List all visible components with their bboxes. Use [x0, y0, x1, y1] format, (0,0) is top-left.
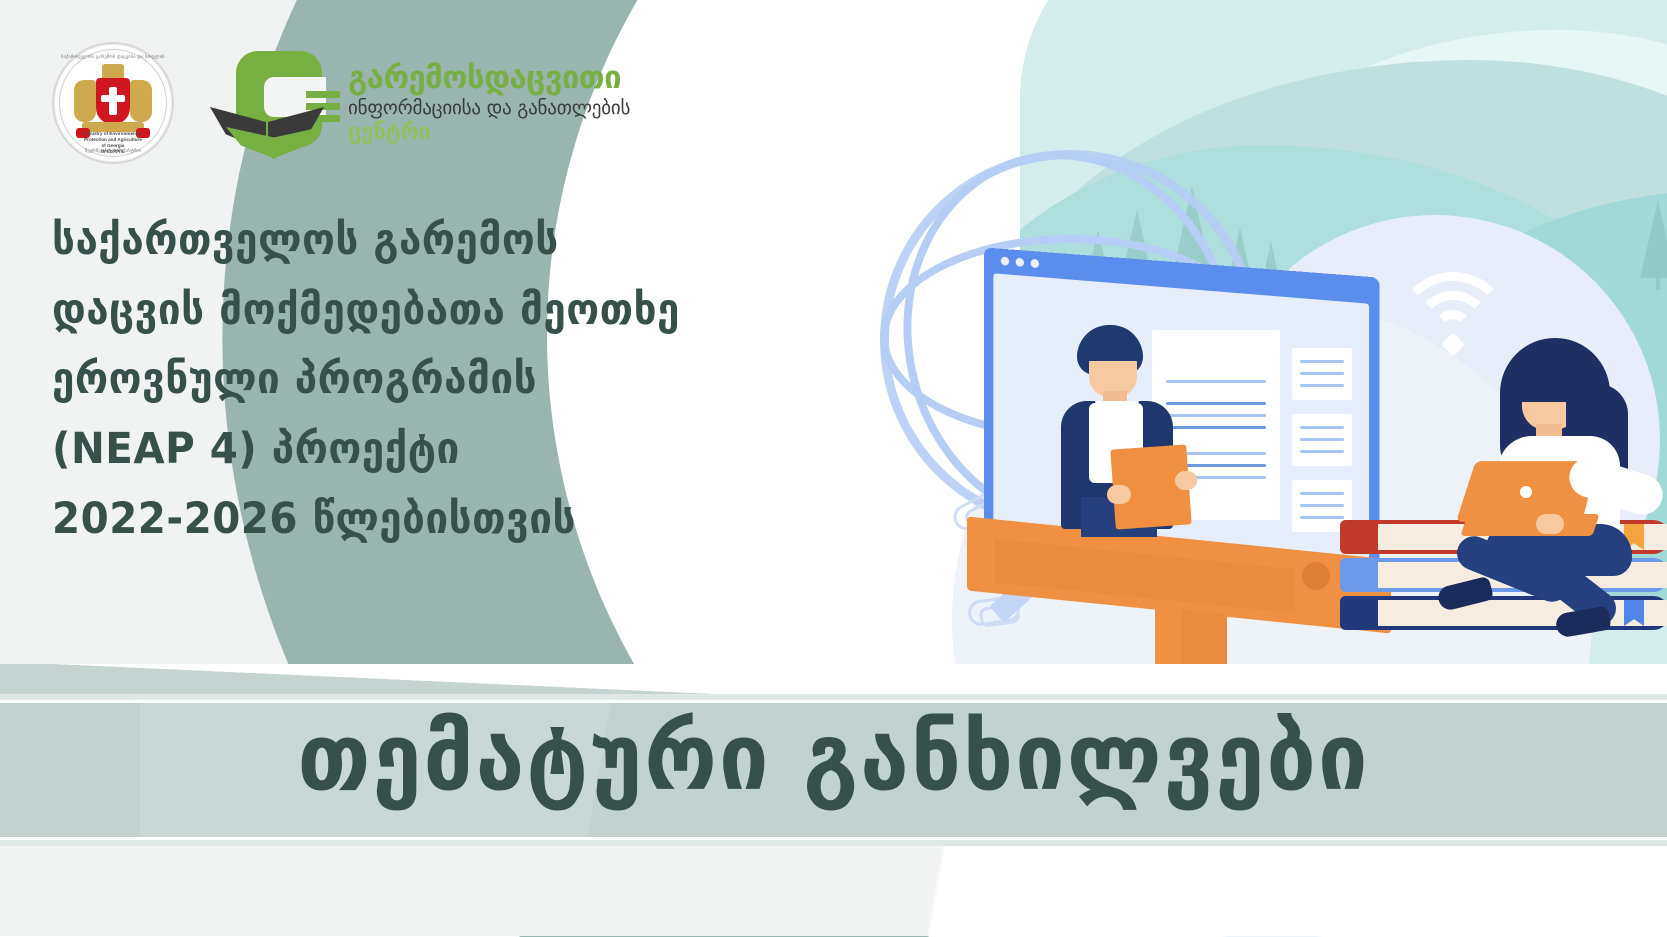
- document-text-line: [1300, 384, 1344, 387]
- pine-tree-icon: [1640, 200, 1667, 278]
- woman-hand: [1536, 514, 1564, 534]
- banner-heading: თემატური განხილვები: [33, 704, 1633, 811]
- document-text-line: [1300, 492, 1344, 495]
- centre-logo-mark: [228, 51, 334, 155]
- seal-arc-text-bottom: მეურნეობის სამინისტრო: [61, 148, 165, 153]
- document-text-line: [1300, 372, 1344, 375]
- logo-bar-2: [306, 103, 340, 110]
- environmental-information-education-centre-logo: გარემოსდაცვითი ინფორმაციისა და განათლები…: [228, 51, 630, 155]
- centre-logo-text: გარემოსდაცვითი ინფორმაციისა და განათლები…: [348, 61, 630, 145]
- slide-title: საქართველოს გარემოს დაცვის მოქმედებათა მ…: [52, 206, 729, 554]
- document-text-line: [1300, 438, 1344, 441]
- seal-lion-left: [74, 80, 96, 122]
- title-line-3: ეროვნული პროგრამის: [52, 345, 729, 415]
- presenter-with-folder: [1055, 325, 1195, 530]
- title-line-1: საქართველოს გარემოს: [52, 206, 729, 276]
- banner-below-wash: [0, 846, 1667, 936]
- centre-name-line-2: ინფორმაციისა და განათლების: [348, 98, 630, 119]
- laptop-logo-dot: [1520, 486, 1532, 498]
- document-text-line: [1300, 426, 1344, 429]
- presenter-hand-left: [1107, 485, 1131, 504]
- centre-name-line-3: ცენტრი: [348, 121, 630, 145]
- title-line-4: (NEAP 4) პროექტი: [52, 415, 729, 485]
- seal-arc-text-top: საქართველოს გარემოს დაცვისა და სოფლის: [61, 54, 165, 59]
- logo-bar-1: [306, 91, 340, 98]
- title-line-5: 2022-2026 წლებისთვის: [52, 485, 729, 555]
- title-line-2: დაცვის მოქმედებათა მეოთხე: [52, 276, 729, 346]
- seal-lion-right: [130, 80, 152, 122]
- woman-with-laptop: [1448, 338, 1667, 608]
- document-text-line: [1300, 360, 1344, 363]
- window-dots: [1001, 256, 1039, 268]
- seal-shield-icon: [96, 78, 130, 124]
- presenter-hand-right: [1175, 471, 1197, 490]
- logo-row: საქართველოს გარემოს დაცვისა და სოფლის Mi…: [52, 42, 630, 164]
- seal-crown-icon: [102, 64, 124, 78]
- document-text-line: [1300, 450, 1344, 453]
- centre-name-line-1: გარემოსდაცვითი: [348, 61, 630, 95]
- document-text-line: [1300, 504, 1344, 507]
- monitor-knob: [1302, 562, 1330, 590]
- presentation-slide: საქართველოს გარემოს დაცვისა და სოფლის Mi…: [0, 0, 1667, 937]
- ministry-seal-logo: საქართველოს გარემოს დაცვისა და სოფლის Mi…: [52, 42, 174, 164]
- document-text-line: [1300, 516, 1344, 519]
- bottom-banner: თემატური განხილვები: [0, 686, 1667, 868]
